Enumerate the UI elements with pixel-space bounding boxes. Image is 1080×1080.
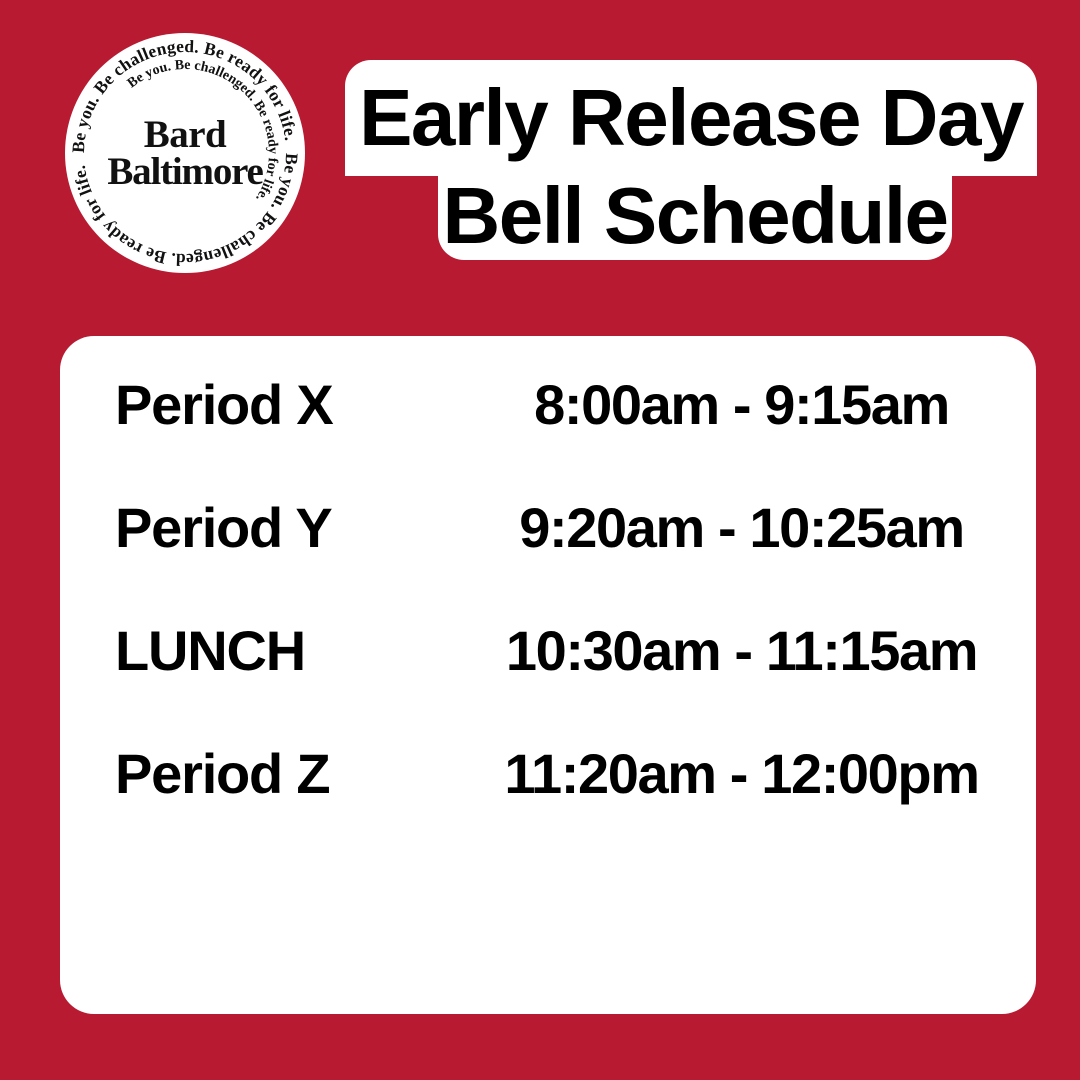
period-time: 10:30am - 11:15am (465, 618, 1036, 683)
logo-wordmark-line-2: Baltimore (107, 153, 262, 190)
table-row: Period Z 11:20am - 12:00pm (60, 741, 1036, 864)
table-row: Period X 8:00am - 9:15am (60, 372, 1036, 495)
bell-schedule-card: Period X 8:00am - 9:15am Period Y 9:20am… (60, 336, 1036, 1014)
period-label: Period X (60, 372, 465, 437)
school-logo-badge: Be you. Be challenged. Be ready for life… (65, 33, 305, 273)
title-notch-right (952, 176, 982, 206)
period-label: Period Z (60, 741, 465, 806)
period-label: LUNCH (60, 618, 465, 683)
logo-wordmark-line-1: Bard (144, 116, 227, 153)
period-time: 9:20am - 10:25am (465, 495, 1036, 560)
table-row: LUNCH 10:30am - 11:15am (60, 618, 1036, 741)
title-plate-line-1: Early Release Day (345, 60, 1037, 176)
period-time: 11:20am - 12:00pm (465, 741, 1036, 806)
page-title-line-2: Bell Schedule (442, 170, 947, 262)
page-title-line-1: Early Release Day (359, 72, 1023, 164)
period-label: Period Y (60, 495, 465, 560)
table-row: Period Y 9:20am - 10:25am (60, 495, 1036, 618)
logo-wordmark: Bard Baltimore (65, 33, 305, 273)
schedule-row-list: Period X 8:00am - 9:15am Period Y 9:20am… (60, 372, 1036, 864)
title-notch-left (408, 176, 438, 206)
period-time: 8:00am - 9:15am (465, 372, 1036, 437)
title-plate-line-2: Bell Schedule (438, 172, 952, 260)
